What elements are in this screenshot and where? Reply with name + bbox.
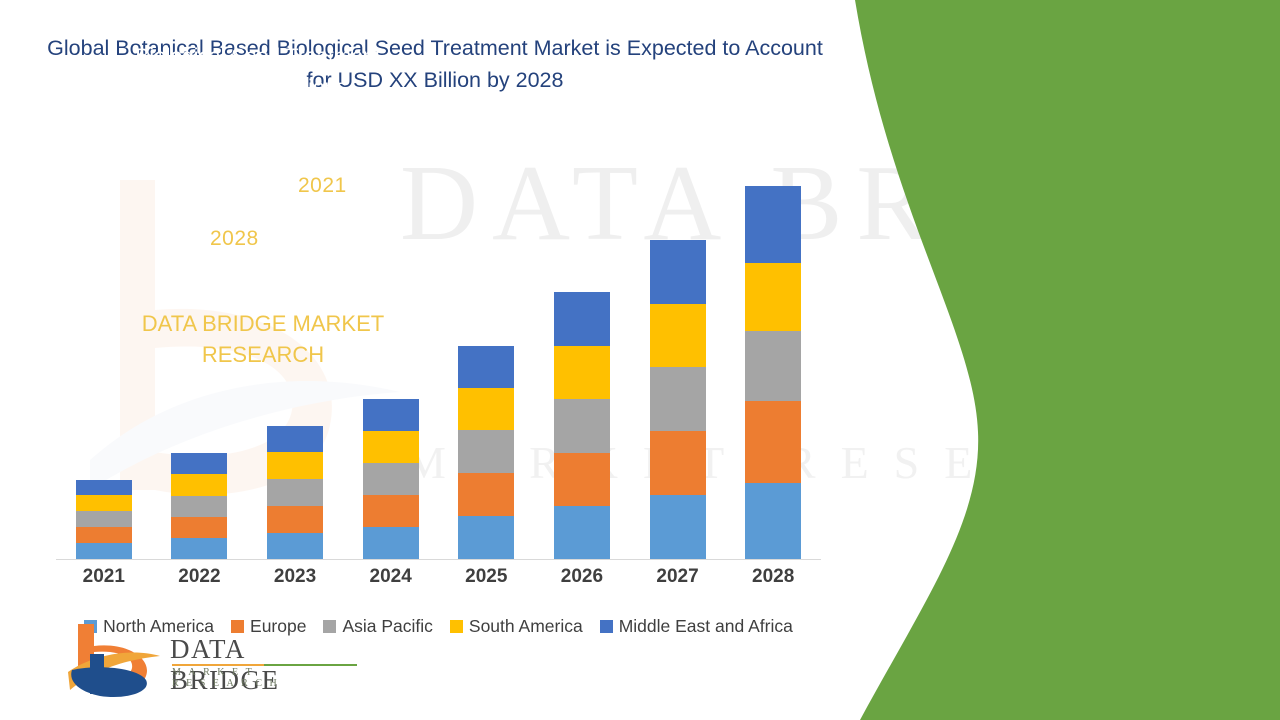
side-panel-title-line3: Market, By Regions, [88,72,428,103]
bar-column-2026 [534,150,630,559]
legend-item-middle-east-and-africa[interactable]: Middle East and Africa [600,616,793,637]
bar-segment-south-america [458,388,514,430]
side-panel: Global Botanical Based Biological Seed T… [0,0,450,720]
bar-segment-south-america [554,346,610,399]
bar-segment-asia-pacific [745,331,801,401]
bar-stack [458,346,514,559]
x-axis-label-2026: 2026 [534,566,630,588]
bar-segment-north-america [745,483,801,559]
dbmr-logo: DATA BRIDGE MARKET RESEARCH [60,620,360,702]
bar-segment-asia-pacific [458,430,514,473]
legend-item-south-america[interactable]: South America [450,616,583,637]
bar-segment-middle-east-and-africa [458,346,514,388]
side-panel-shape [830,0,1280,720]
bar-segment-middle-east-and-africa [745,186,801,263]
side-panel-title-line1: Global Botanical Based [88,10,428,41]
bar-segment-middle-east-and-africa [554,292,610,346]
bar-segment-south-america [745,263,801,331]
bar-segment-south-america [650,304,706,367]
legend-swatch-icon [450,620,463,633]
side-panel-title-line2: Biological Seed Treatment [88,41,428,72]
bar-segment-europe [650,431,706,495]
bar-stack [650,240,706,559]
bar-segment-europe [554,453,610,506]
x-axis-label-2027: 2027 [630,566,726,588]
legend-swatch-icon [600,620,613,633]
dbmr-mark-icon [60,620,165,700]
bar-segment-asia-pacific [650,367,706,431]
bar-segment-north-america [650,495,706,559]
bar-segment-north-america [554,506,610,559]
bar-stack [554,292,610,559]
year-hexagons: 2021 2028 [130,142,420,302]
side-panel-title-line4: 2021 to 2028 [88,103,428,134]
hexagon-2028-label: 2028 [210,227,259,251]
bar-segment-north-america [458,516,514,559]
side-panel-title: Global Botanical Based Biological Seed T… [88,10,428,134]
bar-segment-europe [458,473,514,516]
legend-label: Middle East and Africa [619,616,793,637]
side-panel-brand-line2: RESEARCH [98,339,428,370]
bar-column-2028 [725,150,821,559]
bar-stack [745,186,801,559]
hexagon-2021-label: 2021 [298,174,347,198]
hexagon-outline-icons [130,142,420,302]
x-axis-label-2028: 2028 [725,566,821,588]
bar-segment-asia-pacific [554,399,610,453]
side-panel-brand-line1: DATA BRIDGE MARKET [98,308,428,339]
bar-segment-europe [745,401,801,483]
x-axis-label-2025: 2025 [439,566,535,588]
hexagon-2021-icon [260,157,364,247]
side-panel-brand: DATA BRIDGE MARKET RESEARCH [98,308,428,370]
infographic-canvas: DATA BRIDGE MARKET RESEARCH Global Botan… [0,0,1280,720]
bar-segment-middle-east-and-africa [650,240,706,304]
dbmr-tagline: MARKET RESEARCH [172,667,360,689]
legend-label: South America [469,616,583,637]
bar-column-2027 [630,150,726,559]
bar-column-2025 [439,150,535,559]
